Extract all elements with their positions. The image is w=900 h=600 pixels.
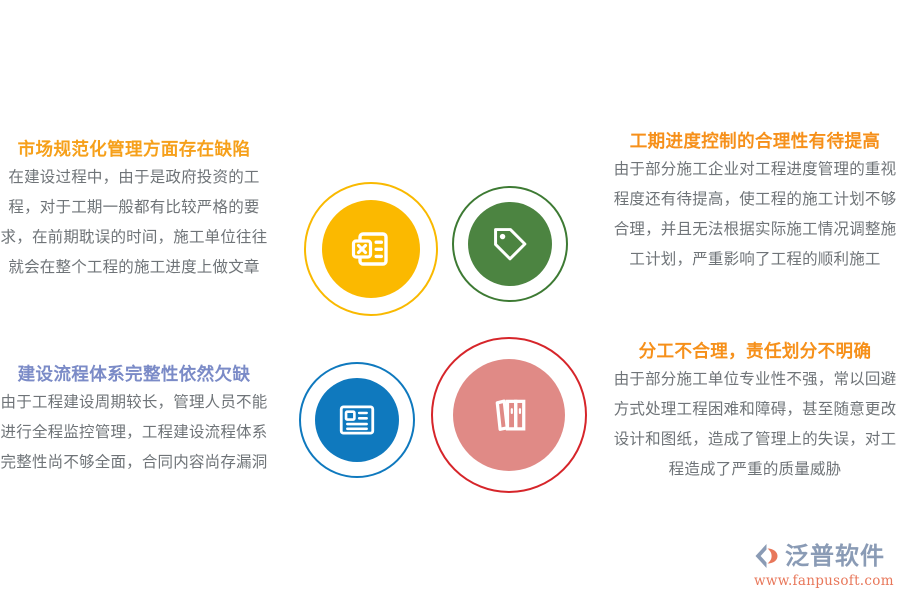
infographic-canvas: 市场规范化管理方面存在缺陷 在建设过程中，由于是政府投资的工程，对于工期一般都有… (0, 0, 900, 600)
block-body: 在建设过程中，由于是政府投资的工程，对于工期一般都有比较严格的要求，在前期耽误的… (0, 162, 268, 282)
text-block-market-standardization: 市场规范化管理方面存在缺陷 在建设过程中，由于是政府投资的工程，对于工期一般都有… (0, 138, 268, 282)
icon-circle-news[interactable] (315, 378, 399, 462)
price-tag-icon (489, 223, 531, 265)
text-block-construction-process-system: 建设流程体系完整性依然欠缺 由于工程建设周期较长，管理人员不能进行全程监控管理，… (0, 363, 268, 477)
spreadsheet-document-icon (347, 225, 395, 273)
block-body: 由于部分施工单位专业性不强，常以回避方式处理工程困难和障碍，甚至随意更改设计和图… (610, 364, 900, 484)
logo-wordmark: 泛普软件 (785, 542, 885, 570)
block-body: 由于部分施工企业对工程进度管理的重视程度还有待提高，使工程的施工计划不够合理，并… (610, 154, 900, 274)
text-block-schedule-control: 工期进度控制的合理性有待提高 由于部分施工企业对工程进度管理的重视程度还有待提高… (610, 130, 900, 274)
icon-circle-spreadsheet[interactable] (322, 200, 420, 298)
block-title: 建设流程体系完整性依然欠缺 (0, 363, 268, 387)
logo-url: www.fanpusoft.com (754, 573, 897, 589)
block-title: 工期进度控制的合理性有待提高 (610, 130, 900, 154)
fanpusoft-logo: 泛普软件 www.fanpusoft.com (752, 540, 897, 592)
block-title: 分工不合理，责任划分不明确 (610, 340, 900, 364)
block-title: 市场规范化管理方面存在缺陷 (0, 138, 268, 162)
books-archive-icon (483, 389, 535, 441)
icon-circle-books[interactable] (453, 359, 565, 471)
block-body: 由于工程建设周期较长，管理人员不能进行全程监控管理，工程建设流程体系完整性尚不够… (0, 387, 268, 477)
logo-row: 泛普软件 (752, 540, 897, 572)
fanpu-logo-mark-icon (752, 542, 782, 570)
text-block-unclear-responsibility: 分工不合理，责任划分不明确 由于部分施工单位专业性不强，常以回避方式处理工程困难… (610, 340, 900, 484)
news-article-icon (336, 399, 378, 441)
icon-circle-tag[interactable] (468, 202, 552, 286)
